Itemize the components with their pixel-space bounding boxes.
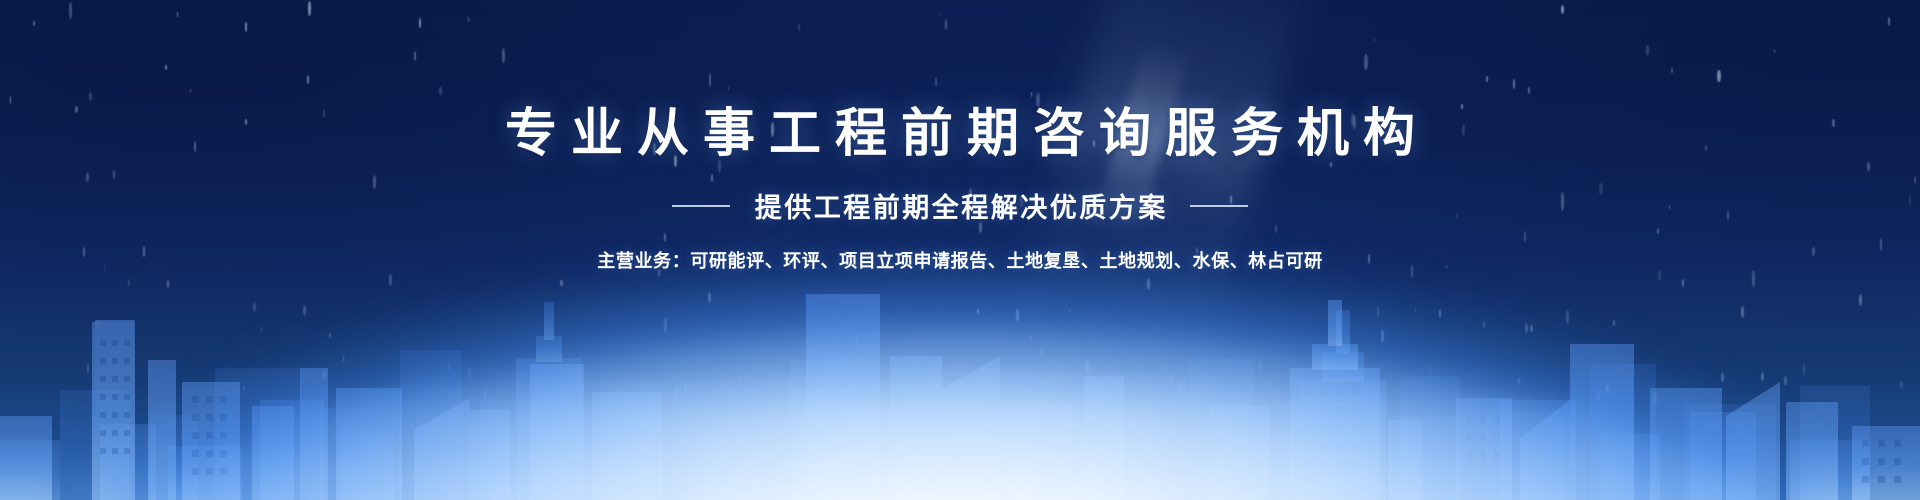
banner-subheadline-row: 提供工程前期全程解决优质方案 <box>0 186 1920 225</box>
right-rule-icon <box>1190 205 1248 207</box>
hero-banner: 专业从事工程前期咨询服务机构 提供工程前期全程解决优质方案 主营业务：可研能评、… <box>0 0 1920 500</box>
banner-copy: 专业从事工程前期咨询服务机构 提供工程前期全程解决优质方案 主营业务：可研能评、… <box>0 0 1920 273</box>
banner-headline: 专业从事工程前期咨询服务机构 <box>0 0 1920 160</box>
banner-subheadline: 提供工程前期全程解决优质方案 <box>752 186 1168 225</box>
banner-business-line: 主营业务：可研能评、环评、项目立项申请报告、土地复垦、土地规划、水保、林占可研 <box>0 247 1920 273</box>
left-rule-icon <box>672 205 730 207</box>
